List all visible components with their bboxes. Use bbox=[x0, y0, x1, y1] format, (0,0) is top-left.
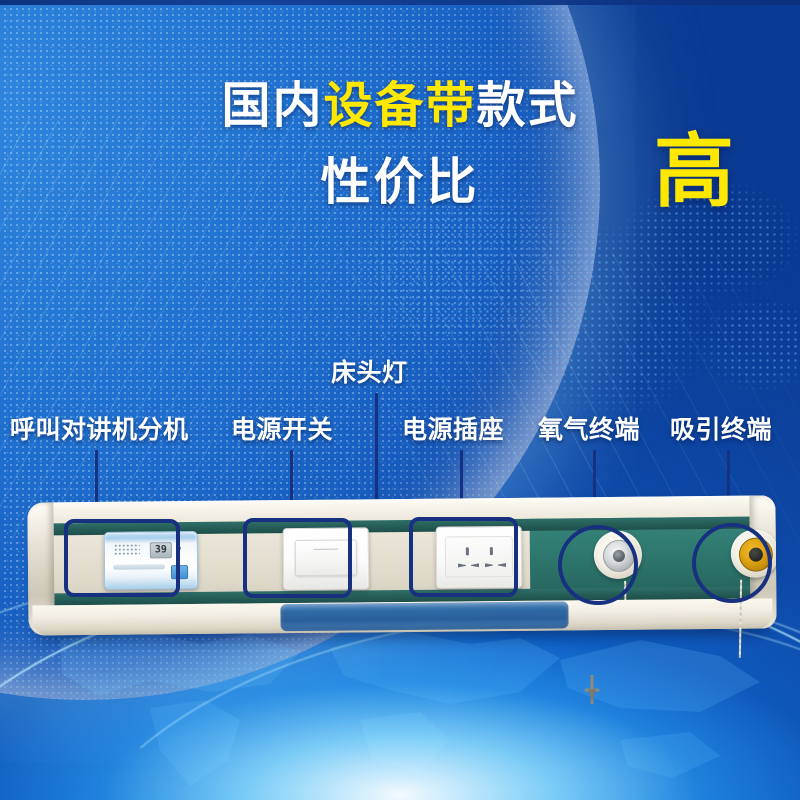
socket-face bbox=[445, 536, 513, 578]
suction-terminal-port bbox=[749, 548, 763, 562]
callout-bed-light: 床头灯 bbox=[331, 361, 408, 386]
hospital-bed-head-unit: 39 bbox=[27, 495, 776, 635]
socket-slot-1 bbox=[458, 563, 466, 567]
speaker-grille-icon bbox=[114, 544, 140, 557]
callout-power-switch: 电源开关 bbox=[231, 418, 333, 443]
promo-banner: 国内设备带款式 性价比 高 呼叫对讲机分机 电源开关 床头灯 电源插座 氧气终端… bbox=[0, 0, 800, 800]
pull-cord-handle-icon bbox=[583, 675, 601, 705]
callout-oxygen-terminal: 氧气终端 bbox=[538, 418, 640, 443]
power-switch-unit[interactable] bbox=[283, 527, 370, 590]
suction-terminal-outlet[interactable] bbox=[731, 529, 777, 577]
oxygen-terminal-port bbox=[613, 550, 625, 562]
socket-pin-right bbox=[490, 547, 493, 555]
callout-power-socket: 电源插座 bbox=[402, 418, 504, 443]
oxygen-terminal-outlet[interactable] bbox=[594, 531, 642, 579]
callout-suction-terminal: 吸引终端 bbox=[670, 418, 772, 443]
socket-slot-2 bbox=[471, 563, 479, 567]
power-socket-unit[interactable] bbox=[436, 526, 523, 589]
bed-light-diffuser bbox=[280, 601, 568, 631]
headline-big-word: 高 bbox=[654, 132, 734, 212]
switch-paddle-line bbox=[314, 549, 338, 550]
callout-intercom: 呼叫对讲机分机 bbox=[10, 418, 189, 443]
top-strip bbox=[0, 0, 800, 5]
status-led-icon bbox=[177, 546, 181, 550]
intercom-display: 39 bbox=[150, 542, 172, 558]
panel-body: 39 bbox=[27, 495, 776, 635]
nurse-call-intercom-unit[interactable]: 39 bbox=[104, 531, 199, 590]
socket-slot-3 bbox=[485, 563, 493, 567]
suction-terminal-ring bbox=[739, 537, 773, 571]
intercom-slot bbox=[113, 564, 165, 569]
oxygen-terminal-ring bbox=[603, 540, 635, 572]
switch-paddle[interactable] bbox=[295, 539, 357, 576]
socket-pin-left bbox=[466, 547, 469, 555]
socket-slot-4 bbox=[498, 563, 506, 567]
intercom-call-button[interactable] bbox=[171, 565, 188, 579]
